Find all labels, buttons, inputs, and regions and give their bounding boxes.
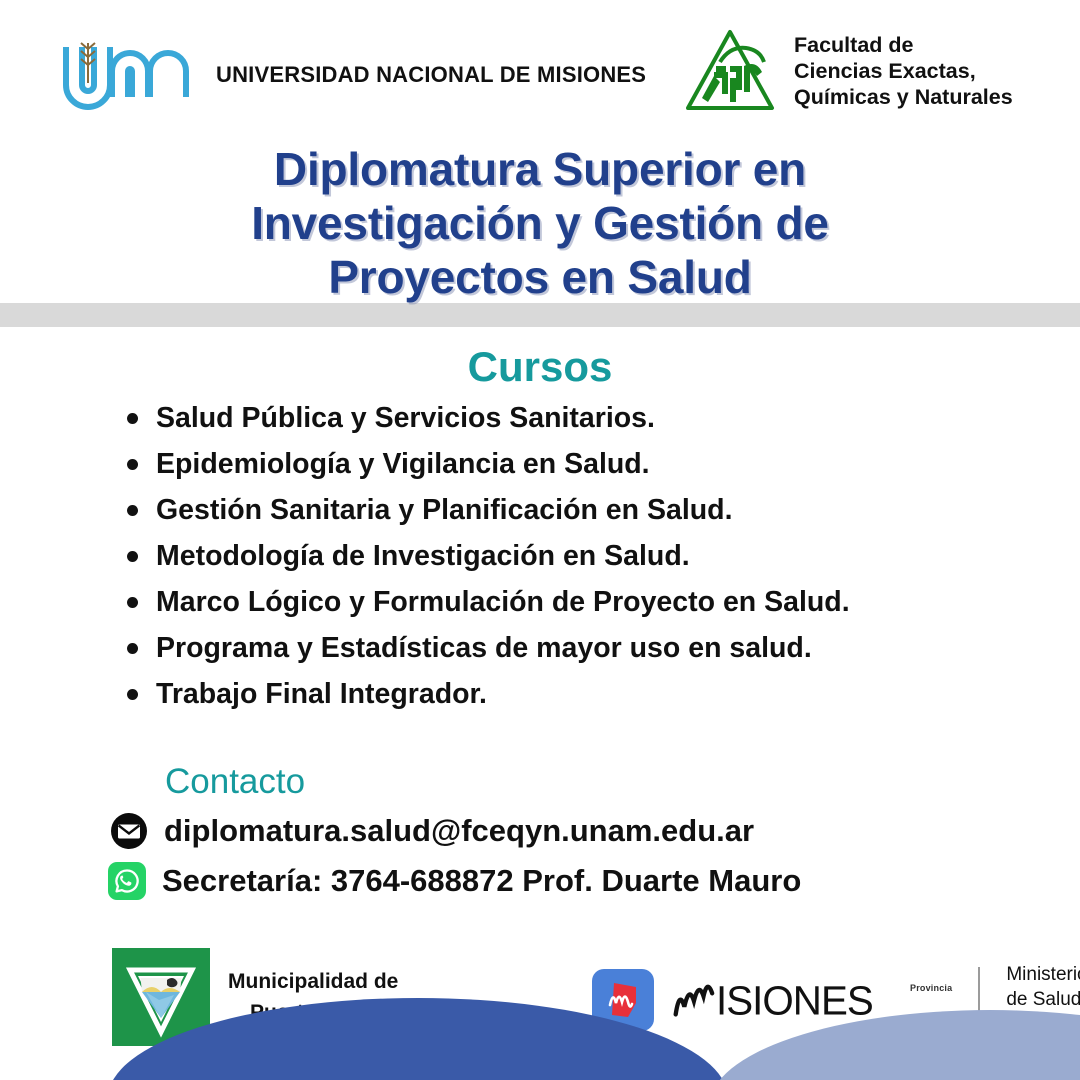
unam-line-1: UNIVERSIDAD <box>216 62 370 87</box>
whatsapp-icon <box>108 862 146 900</box>
ministerio-line-2: de Salud <box>1006 987 1080 1012</box>
unam-line-3: DE MISIONES <box>500 62 646 87</box>
fceqyn-line-3: Químicas y Naturales <box>794 85 1013 109</box>
list-item: Epidemiología y Vigilancia en Salud. <box>118 446 1018 482</box>
course-label: Metodología de Investigación en Salud. <box>156 542 690 571</box>
misiones-wordmark-svg: ISIONES <box>668 975 908 1025</box>
bullet-icon <box>127 597 138 608</box>
title-line-1: Diplomatura Superior en <box>0 143 1080 197</box>
course-label: Trabajo Final Integrador. <box>156 680 487 709</box>
list-item: Marco Lógico y Formulación de Proyecto e… <box>118 584 1018 620</box>
courses-heading: Cursos <box>0 343 1080 391</box>
title-line-3: Proyectos en Salud <box>0 251 1080 305</box>
list-item: Programa y Estadísticas de mayor uso en … <box>118 630 1018 666</box>
ministerio-line-1: Ministerio <box>1006 962 1080 987</box>
poster-title: Diplomatura Superior en Investigación y … <box>0 143 1080 304</box>
poster-canvas: UNIVERSIDAD NACIONAL DE MISIONES <box>0 0 1080 1080</box>
contact-whatsapp-value: Secretaría: 3764-688872 Prof. Duarte Mau… <box>162 863 801 899</box>
fceqyn-line-2: Ciencias Exactas, <box>794 59 976 83</box>
svg-text:ISIONES: ISIONES <box>716 978 873 1024</box>
course-label: Marco Lógico y Formulación de Proyecto e… <box>156 588 850 617</box>
list-item: Metodología de Investigación en Salud. <box>118 538 1018 574</box>
bullet-icon <box>127 413 138 424</box>
unam-name: UNIVERSIDAD NACIONAL DE MISIONES <box>216 62 646 88</box>
municipalidad-line-1: Municipalidad de <box>228 966 398 998</box>
email-envelope-icon <box>110 812 148 850</box>
courses-list: Salud Pública y Servicios Sanitarios. Ep… <box>118 400 1018 722</box>
fceqyn-name: Facultad de Ciencias Exactas, Químicas y… <box>794 33 1013 110</box>
list-item: Salud Pública y Servicios Sanitarios. <box>118 400 1018 436</box>
course-label: Programa y Estadísticas de mayor uso en … <box>156 634 812 663</box>
fceqyn-logo-block: Facultad de Ciencias Exactas, Químicas y… <box>680 22 1013 122</box>
course-label: Epidemiología y Vigilancia en Salud. <box>156 450 650 479</box>
fceqyn-line-1: Facultad de <box>794 33 913 57</box>
unam-logo-block: UNIVERSIDAD NACIONAL DE MISIONES <box>52 35 646 115</box>
unam-wheat-logo-icon <box>52 35 202 115</box>
list-item: Gestión Sanitaria y Planificación en Sal… <box>118 492 1018 528</box>
bullet-icon <box>127 551 138 562</box>
bullet-icon <box>127 459 138 470</box>
contact-heading: Contacto <box>165 762 305 802</box>
contact-email-value: diplomatura.salud@fceqyn.unam.edu.ar <box>164 813 754 849</box>
misiones-superscript: Provincia <box>910 983 952 993</box>
unam-line-2: NACIONAL <box>376 62 493 87</box>
course-label: Salud Pública y Servicios Sanitarios. <box>156 404 655 433</box>
list-item: Trabajo Final Integrador. <box>118 676 1018 712</box>
title-line-2: Investigación y Gestión de <box>0 197 1080 251</box>
bullet-icon <box>127 643 138 654</box>
contact-whatsapp-row[interactable]: Secretaría: 3764-688872 Prof. Duarte Mau… <box>108 862 801 900</box>
bullet-icon <box>127 505 138 516</box>
bullet-icon <box>127 689 138 700</box>
header: UNIVERSIDAD NACIONAL DE MISIONES <box>0 0 1080 140</box>
contact-email-row[interactable]: diplomatura.salud@fceqyn.unam.edu.ar <box>110 812 754 850</box>
course-label: Gestión Sanitaria y Planificación en Sal… <box>156 496 733 525</box>
fceqyn-triangle-logo-icon <box>680 22 780 122</box>
